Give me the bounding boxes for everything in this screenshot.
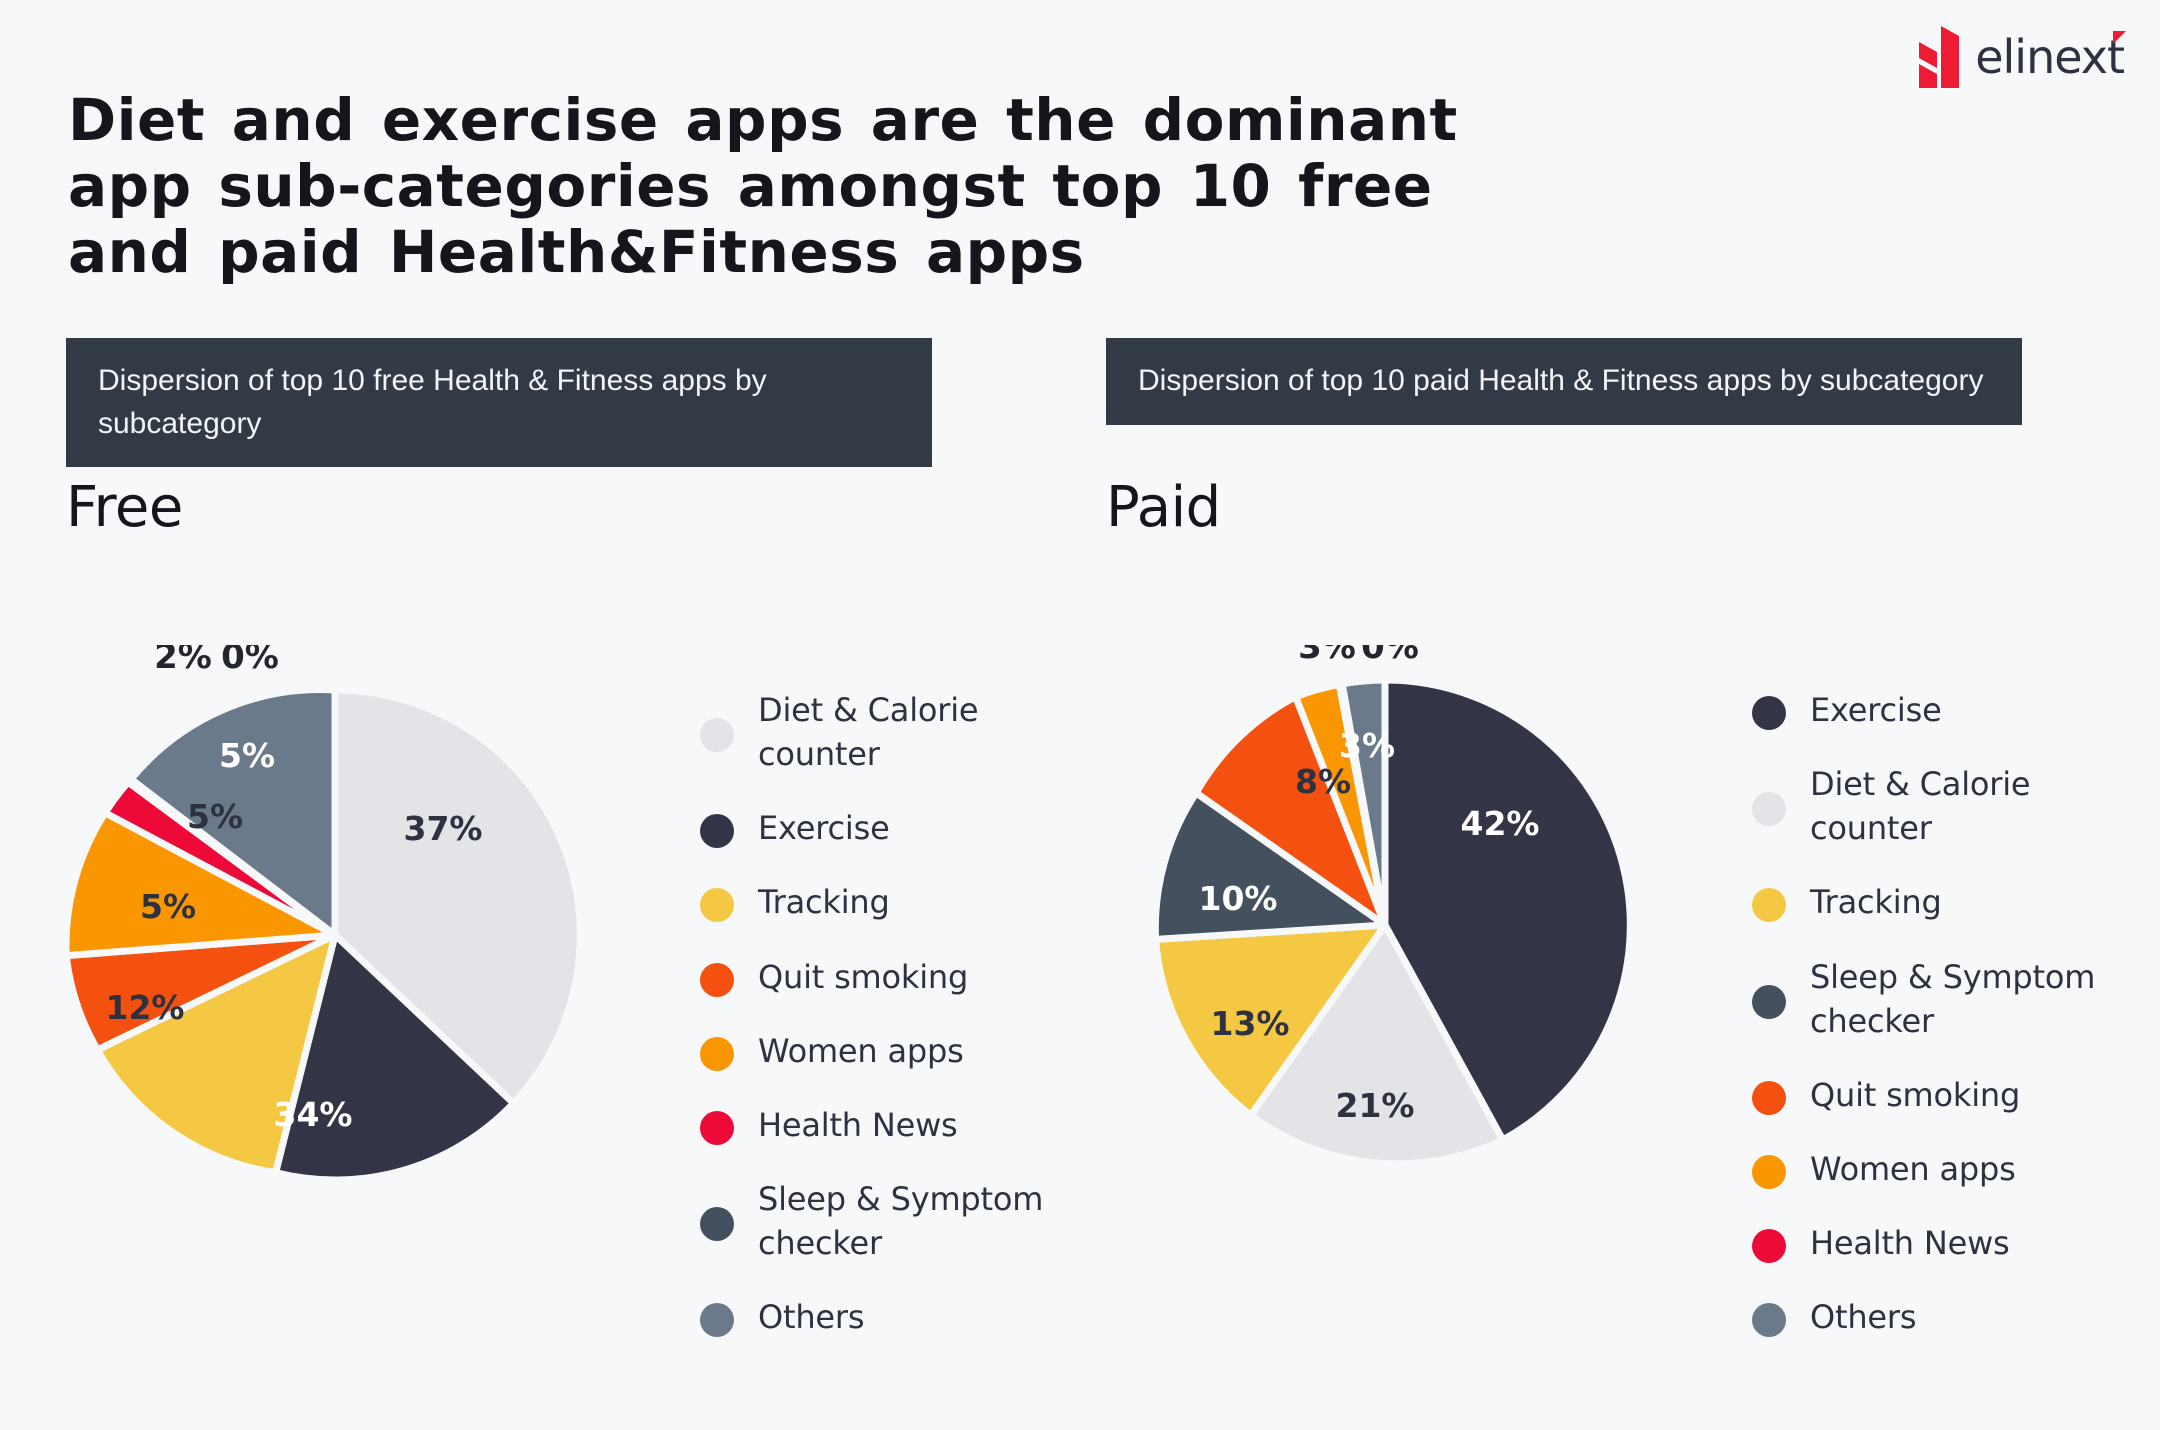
legend-item-quit-smoking[interactable]: Quit smoking	[1752, 1073, 2110, 1117]
legend-swatch-others	[700, 1303, 734, 1337]
pie-label-value-health-news: 2%	[154, 645, 212, 677]
legend-label-tracking: Tracking	[1810, 880, 1942, 924]
legend-swatch-diet-calorie-counter	[1752, 792, 1786, 826]
legend-label-exercise: Exercise	[1810, 688, 1942, 732]
legend-swatch-women-apps	[700, 1037, 734, 1071]
pie-label-value-13: 13%	[1211, 1004, 1290, 1043]
legend-item-quit-smoking[interactable]: Quit smoking	[700, 955, 1058, 999]
legend-swatch-sleep-symptom-checker	[1752, 985, 1786, 1019]
legend-label-sleep-symptom-checker: Sleep & Symptom checker	[758, 1177, 1058, 1265]
legend-swatch-quit-smoking	[700, 963, 734, 997]
chart-caption-paid: Dispersion of top 10 paid Health & Fitne…	[1106, 338, 2022, 425]
pie-label-value-12: 12%	[106, 988, 185, 1027]
legend-free: Diet & Calorie counter Exercise Tracking…	[700, 688, 1058, 1370]
legend-item-tracking[interactable]: Tracking	[700, 880, 1058, 924]
pie-label-value-health-news: 0%	[1361, 645, 1419, 667]
legend-label-health-news: Health News	[1810, 1221, 2010, 1265]
pie-label-value-others: 3%	[1339, 726, 1395, 765]
legend-swatch-diet-calorie-counter	[700, 718, 734, 752]
pie-label-value-women-apps: 5%	[187, 797, 243, 836]
legend-label-exercise: Exercise	[758, 806, 890, 850]
pie-label-value-others: 5%	[219, 736, 275, 775]
legend-item-exercise[interactable]: Exercise	[1752, 688, 2110, 732]
legend-label-diet-calorie-counter: Diet & Calorie counter	[758, 688, 1058, 776]
pie-label-value-quit-smoking: 8%	[1295, 762, 1351, 801]
legend-swatch-health-news	[1752, 1229, 1786, 1263]
legend-paid: Exercise Diet & Calorie counter Tracking…	[1752, 688, 2110, 1370]
section-heading-paid: Paid	[1106, 475, 1221, 540]
legend-label-quit-smoking: Quit smoking	[1810, 1073, 2020, 1117]
page-title: Diet and exercise apps are the dominant …	[68, 87, 1468, 285]
legend-item-sleep-symptom-checker[interactable]: Sleep & Symptom checker	[1752, 955, 2110, 1043]
brand-logo: elinext	[1905, 26, 2124, 88]
legend-item-tracking[interactable]: Tracking	[1752, 880, 2110, 924]
pie-label-value-sleep-symptom: 10%	[1199, 879, 1278, 918]
legend-swatch-tracking	[1752, 888, 1786, 922]
legend-item-sleep-symptom-checker[interactable]: Sleep & Symptom checker	[700, 1177, 1058, 1265]
pie-label-value-sleep-symptom: 0%	[221, 645, 279, 677]
legend-label-others: Others	[1810, 1295, 1916, 1339]
legend-swatch-quit-smoking	[1752, 1081, 1786, 1115]
legend-label-diet-calorie-counter: Diet & Calorie counter	[1810, 762, 2110, 850]
legend-item-women-apps[interactable]: Women apps	[700, 1029, 1058, 1073]
legend-item-others[interactable]: Others	[1752, 1295, 2110, 1339]
legend-swatch-tracking	[700, 888, 734, 922]
legend-swatch-health-news	[700, 1111, 734, 1145]
pie-label-value-42: 42%	[1461, 804, 1540, 843]
legend-swatch-sleep-symptom-checker	[700, 1207, 734, 1241]
legend-item-diet-calorie-counter[interactable]: Diet & Calorie counter	[700, 688, 1058, 776]
legend-label-health-news: Health News	[758, 1103, 958, 1147]
chart-caption-free: Dispersion of top 10 free Health & Fitne…	[66, 338, 932, 467]
elinext-mark-icon	[1905, 26, 1959, 88]
brand-wordmark: elinext	[1975, 34, 2124, 80]
legend-item-others[interactable]: Others	[700, 1295, 1058, 1339]
pie-chart-free: 37% 37% 34% 12% 5% 5% 2% 0% 5%	[55, 645, 635, 1225]
pie-label-value-21: 21%	[1336, 1086, 1415, 1125]
legend-label-sleep-symptom-checker: Sleep & Symptom checker	[1810, 955, 2110, 1043]
legend-label-women-apps: Women apps	[758, 1029, 964, 1073]
legend-swatch-others	[1752, 1303, 1786, 1337]
legend-label-others: Others	[758, 1295, 864, 1339]
legend-item-women-apps[interactable]: Women apps	[1752, 1147, 2110, 1191]
pie-label-value-37: 37%	[404, 809, 483, 848]
legend-item-health-news[interactable]: Health News	[700, 1103, 1058, 1147]
brand-tick-icon	[2113, 31, 2126, 44]
legend-swatch-women-apps	[1752, 1155, 1786, 1189]
legend-item-diet-calorie-counter[interactable]: Diet & Calorie counter	[1752, 762, 2110, 850]
pie-chart-paid: 42% 21% 13% 10% 8% 3% 0% 3%	[1105, 645, 1685, 1225]
pie-label-value-women-apps: 3%	[1298, 645, 1356, 667]
section-heading-free: Free	[66, 475, 183, 540]
legend-swatch-exercise	[700, 814, 734, 848]
brand-wordmark-text: elinext	[1975, 30, 2124, 84]
legend-swatch-exercise	[1752, 696, 1786, 730]
legend-item-exercise[interactable]: Exercise	[700, 806, 1058, 850]
legend-label-tracking: Tracking	[758, 880, 890, 924]
pie-label-value-34: 34%	[274, 1095, 353, 1134]
legend-label-women-apps: Women apps	[1810, 1147, 2016, 1191]
legend-label-quit-smoking: Quit smoking	[758, 955, 968, 999]
pie-label-value-quit-smoking: 5%	[140, 887, 196, 926]
legend-item-health-news[interactable]: Health News	[1752, 1221, 2110, 1265]
